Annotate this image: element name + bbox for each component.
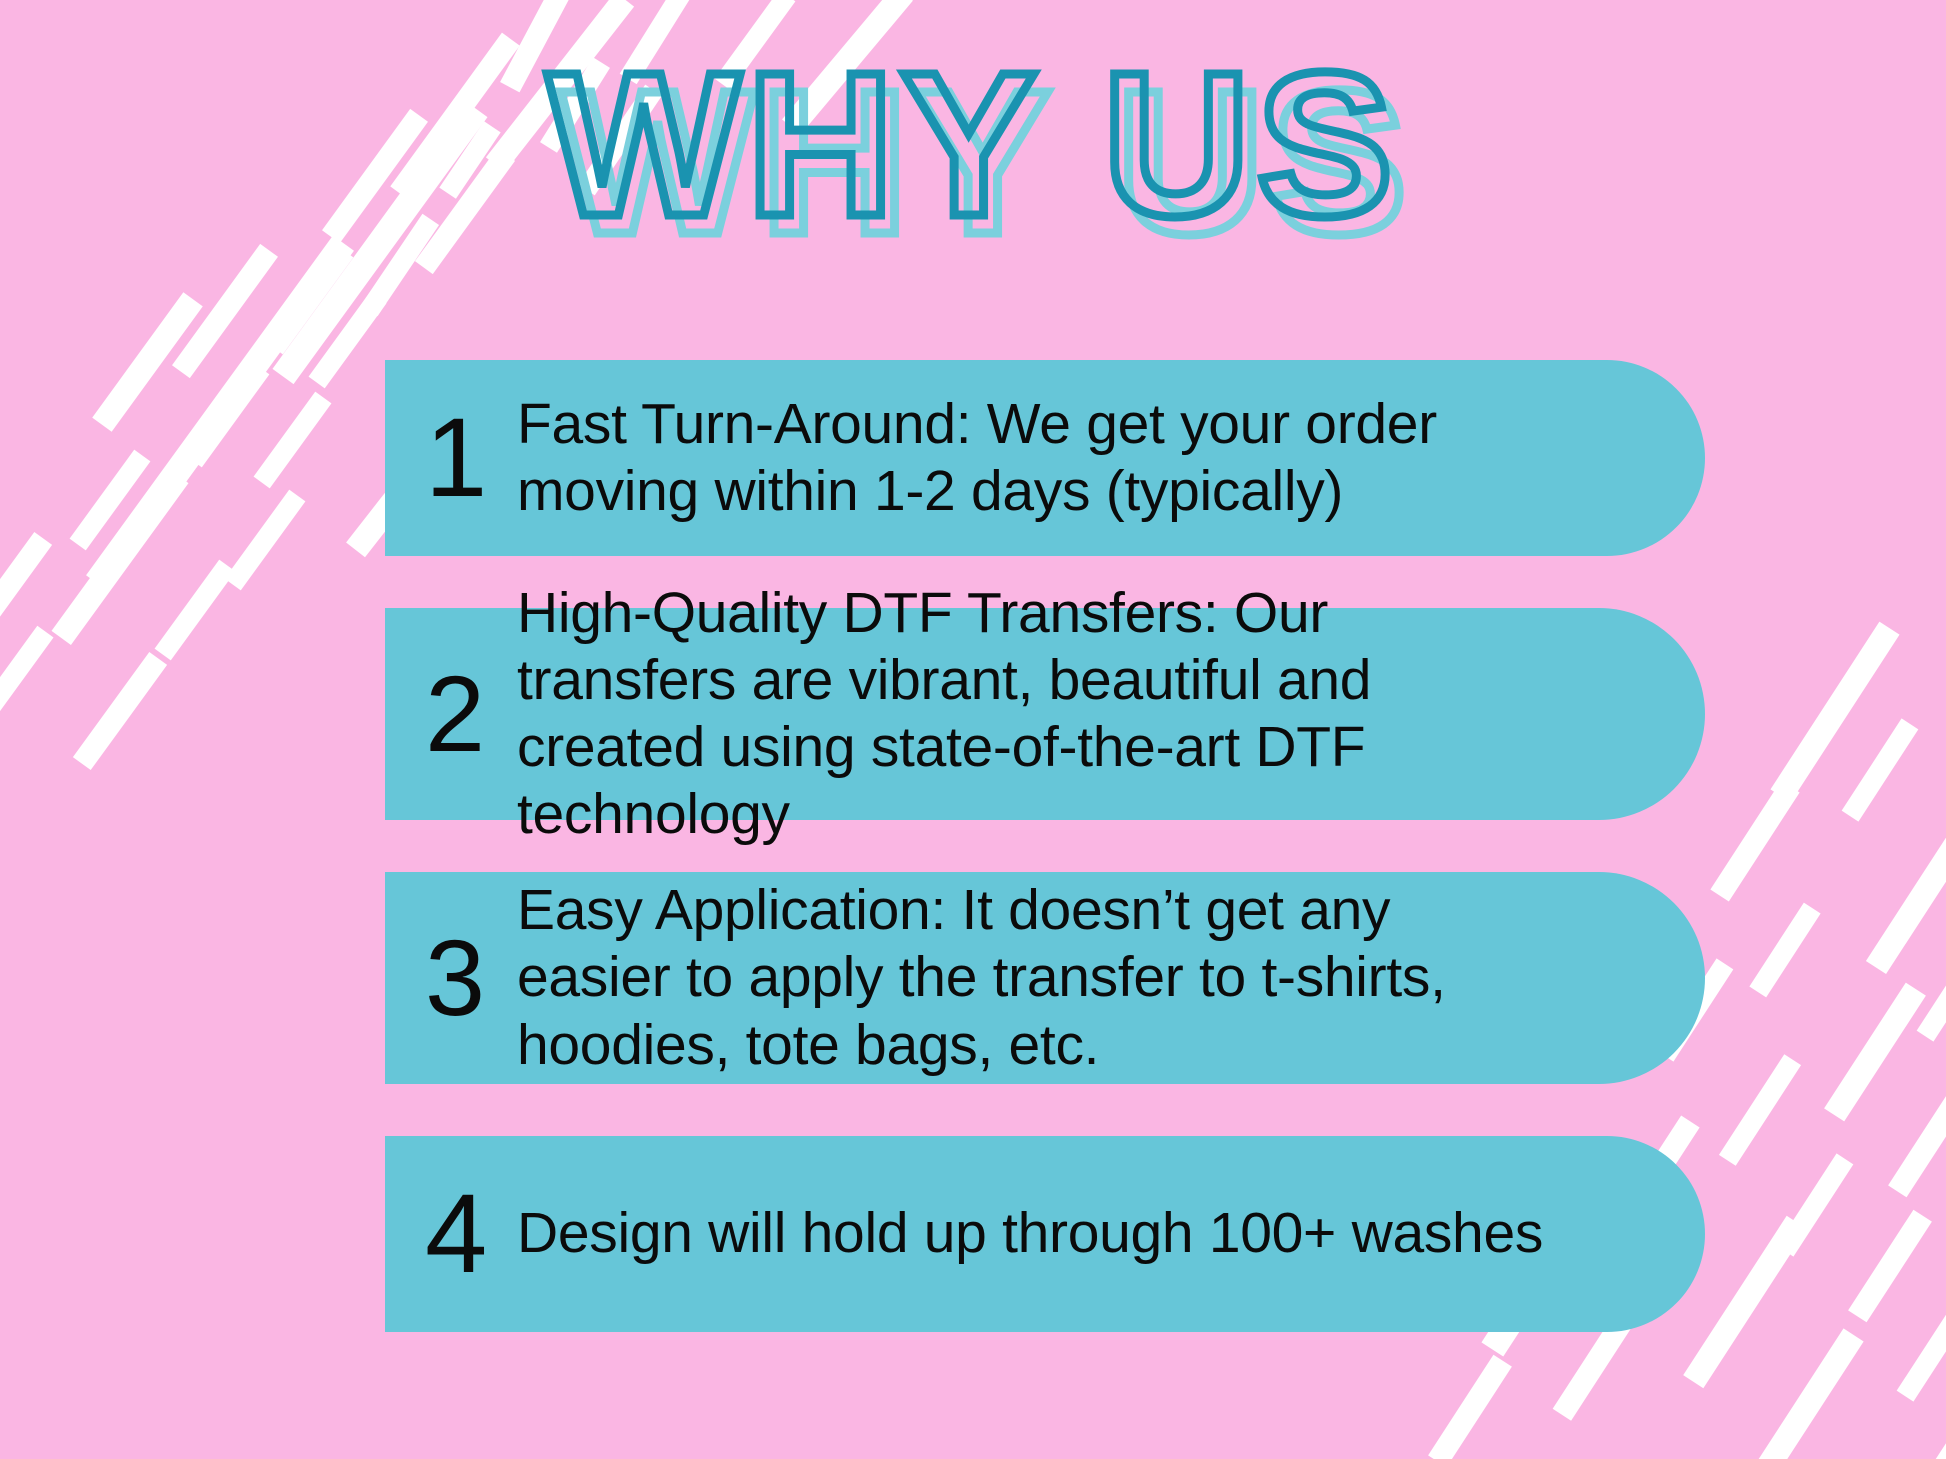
diagonal-dash — [1848, 1210, 1932, 1323]
diagonal-dash — [1756, 1328, 1863, 1459]
diagonal-dash — [1888, 1085, 1946, 1198]
page-title-text: WHY US — [0, 42, 1946, 247]
diagonal-dash — [782, 0, 913, 135]
item-text: Easy Application: It doesn’t get any eas… — [517, 877, 1557, 1079]
diagonal-dash — [0, 532, 52, 650]
diagonal-dash — [70, 450, 151, 551]
diagonal-dash — [140, 438, 209, 523]
diagonal-dash — [73, 652, 167, 770]
diagonal-dash — [309, 292, 387, 389]
item-text: Fast Turn-Around: We get your order movi… — [517, 391, 1547, 526]
diagonal-dash — [415, 148, 515, 274]
diagonal-dash — [1897, 1298, 1946, 1401]
benefits-list: 1 Fast Turn-Around: We get your order mo… — [385, 360, 1705, 1384]
diagonal-dash — [486, 0, 634, 172]
diagonal-dash — [267, 246, 354, 355]
diagonal-dash — [1770, 622, 1899, 803]
diagonal-dash — [715, 0, 796, 90]
diagonal-dash — [0, 626, 54, 715]
diagonal-dash — [272, 102, 487, 384]
diagonal-dash — [186, 363, 270, 468]
item-text: High-Quality DTF Transfers: Our transfer… — [517, 580, 1557, 849]
page-title-shadow: WHY US — [14, 60, 1946, 265]
diagonal-dash — [1917, 938, 1946, 1041]
list-item: 2 High-Quality DTF Transfers: Our transf… — [385, 608, 1705, 820]
diagonal-dash — [254, 392, 332, 489]
diagonal-dash — [92, 292, 203, 432]
diagonal-dash — [578, 85, 662, 196]
diagonal-dash — [540, 57, 610, 152]
diagonal-dash — [225, 490, 306, 591]
diagonal-dash — [1866, 810, 1946, 974]
list-item: 1 Fast Turn-Around: We get your order mo… — [385, 360, 1705, 556]
diagonal-dash — [1749, 903, 1820, 998]
item-number: 1 — [425, 405, 517, 511]
item-number: 4 — [425, 1181, 517, 1287]
diagonal-dash — [1824, 983, 1926, 1122]
page-title: WHY US WHY US — [0, 42, 1946, 262]
item-number: 2 — [425, 663, 517, 766]
diagonal-dash — [390, 33, 519, 200]
diagonal-dash — [155, 560, 236, 661]
diagonal-dash — [1777, 1153, 1854, 1256]
diagonal-dash — [52, 469, 189, 645]
list-item: 3 Easy Application: It doesn’t get any e… — [385, 872, 1705, 1084]
diagonal-dash — [620, 0, 701, 84]
list-item: 4 Design will hold up through 100+ washe… — [385, 1136, 1705, 1332]
diagonal-dash — [1842, 718, 1919, 821]
diagonal-dash — [361, 214, 439, 316]
diagonal-dash — [1710, 780, 1799, 901]
poster-canvas: WHY US WHY US 1 Fast Turn-Around: We get… — [0, 0, 1946, 1459]
diagonal-dash — [1922, 1388, 1946, 1459]
diagonal-dash — [172, 244, 278, 378]
diagonal-dash — [322, 109, 428, 243]
item-number: 3 — [425, 927, 517, 1030]
diagonal-dash — [1719, 1054, 1801, 1166]
diagonal-dash — [439, 121, 500, 199]
item-text: Design will hold up through 100+ washes — [517, 1200, 1543, 1267]
diagonal-dash — [500, 0, 590, 92]
diagonal-dash — [86, 235, 354, 590]
